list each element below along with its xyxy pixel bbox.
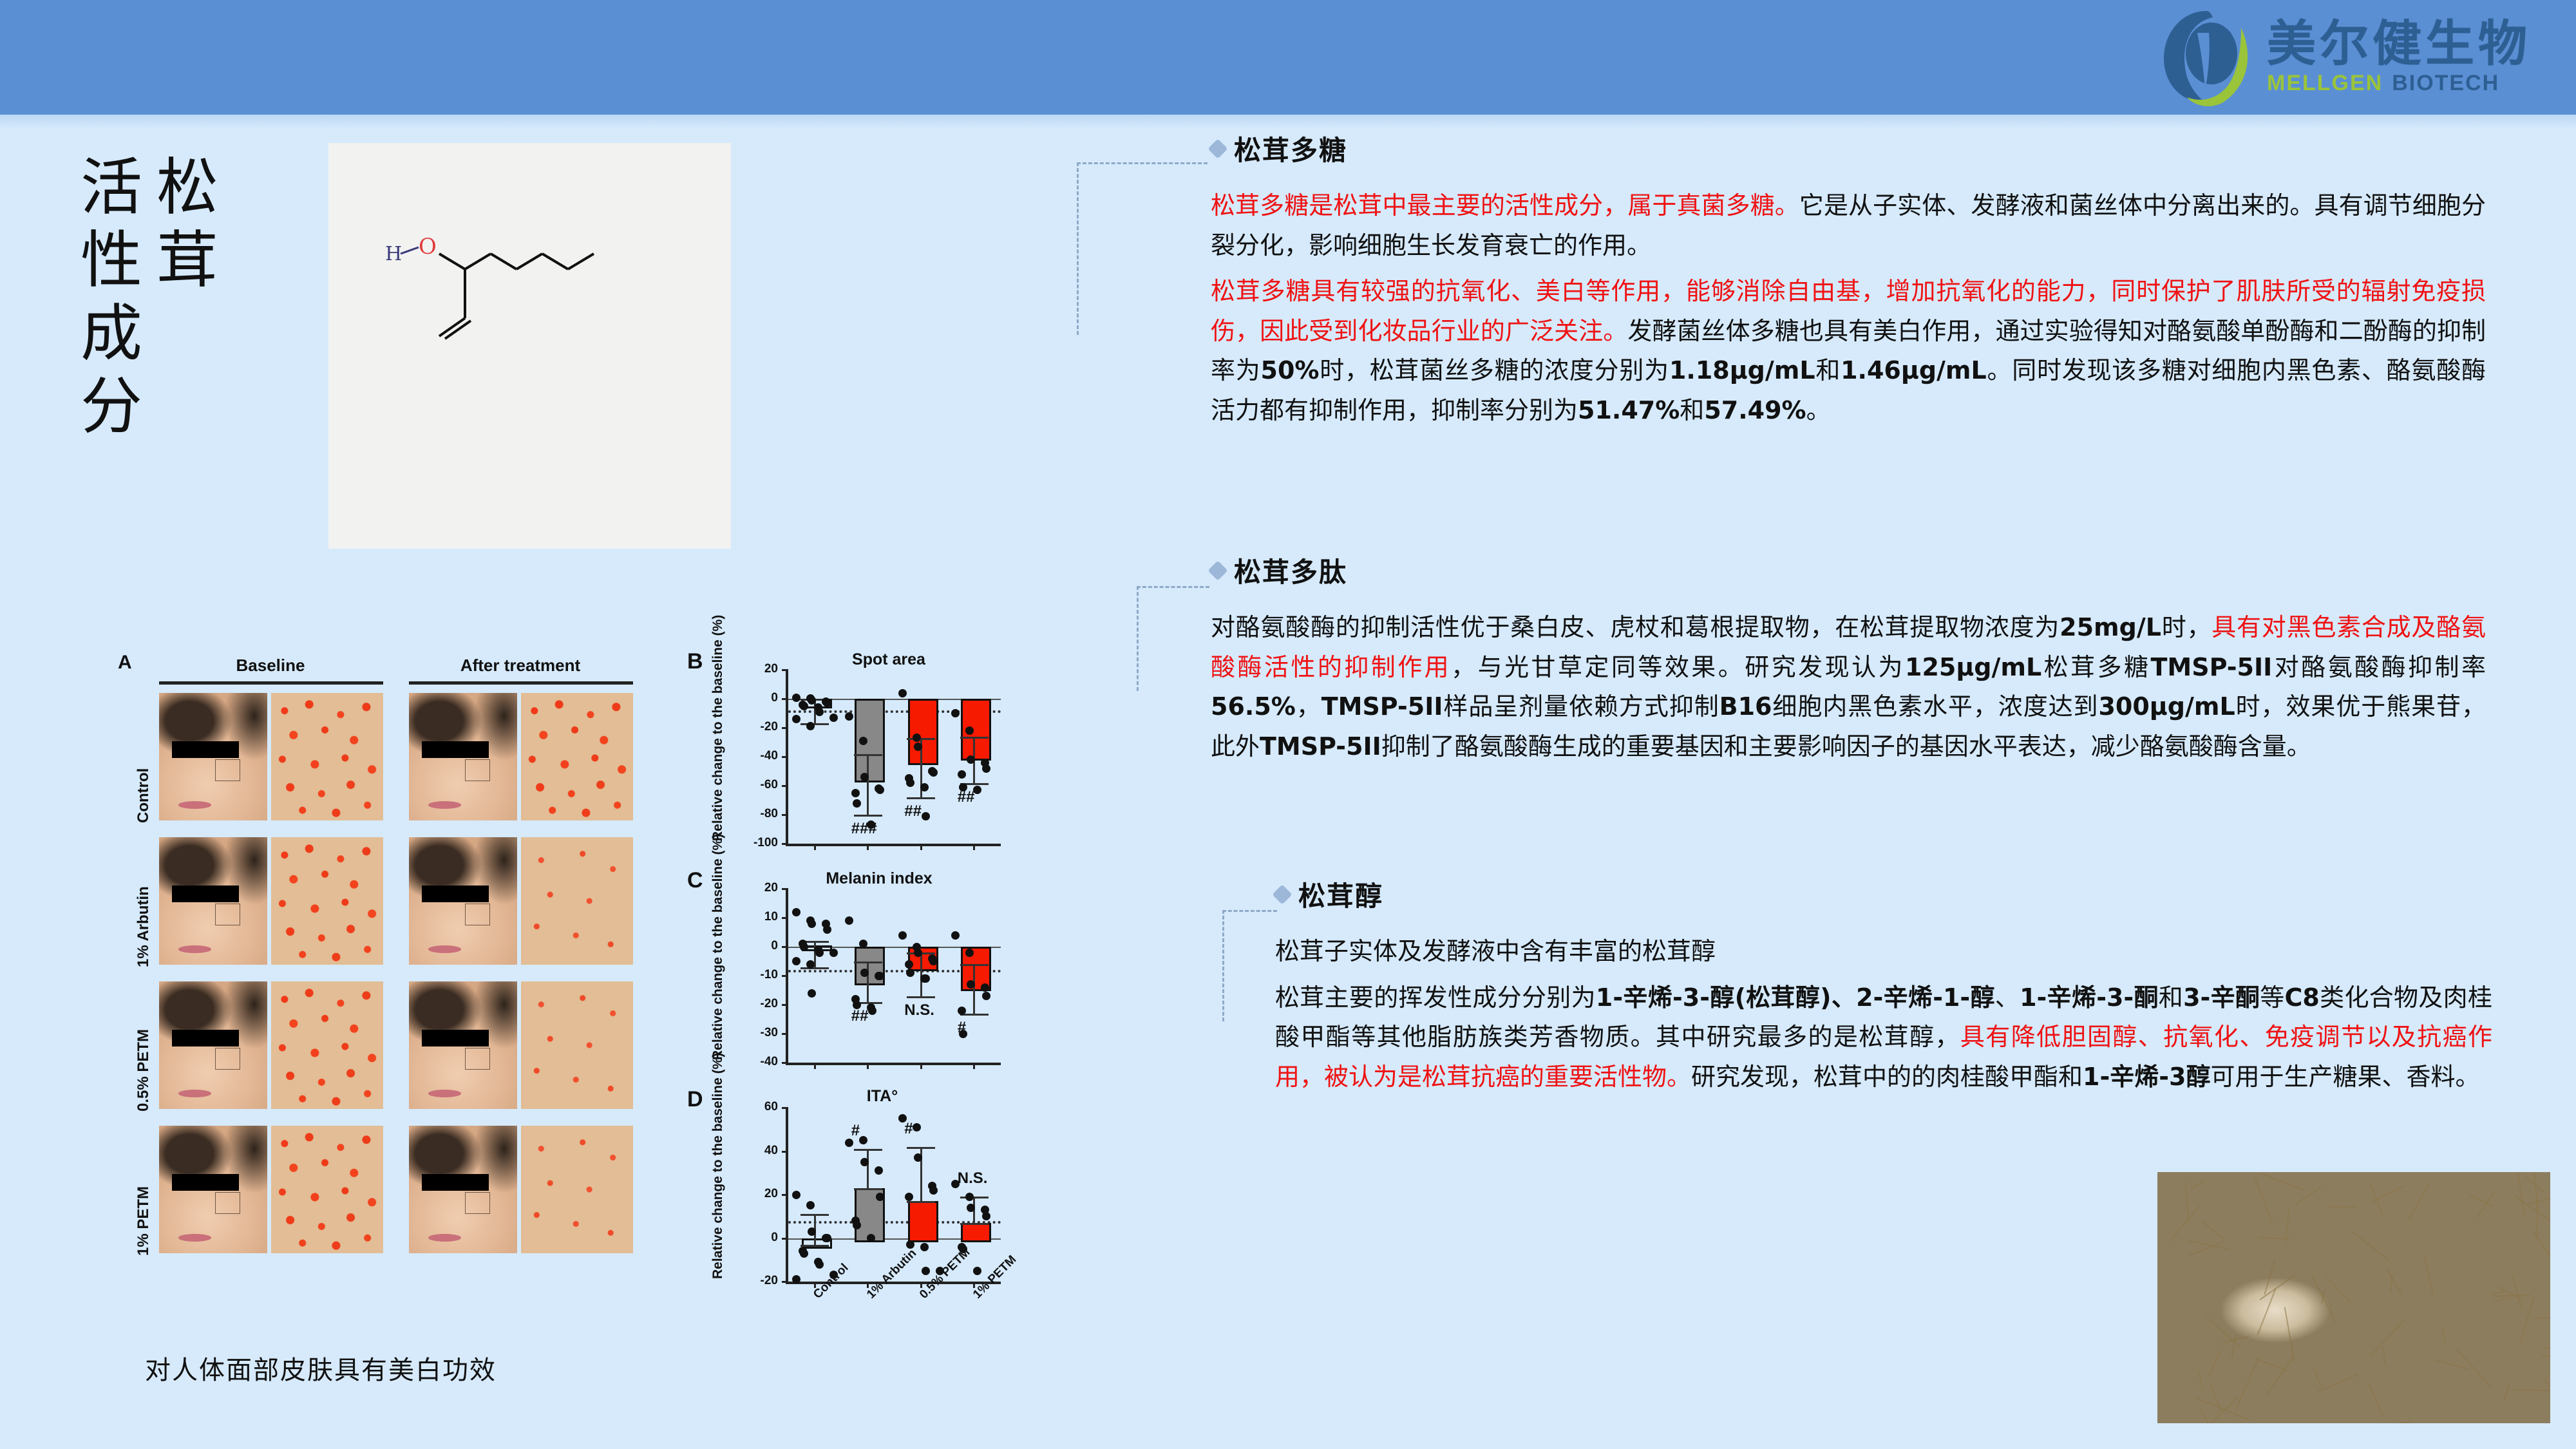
error-bar-cap xyxy=(854,754,882,756)
spot-map xyxy=(271,981,383,1109)
clinical-figure: A Baseline After treatment Control 1% Ar… xyxy=(119,644,1008,1340)
error-bar-cap xyxy=(854,1188,882,1190)
pine-needle xyxy=(2441,1327,2446,1342)
text-run: B16 xyxy=(1719,692,1772,721)
pine-needle xyxy=(2202,1221,2223,1240)
data-point xyxy=(792,957,800,965)
data-point xyxy=(868,1007,876,1015)
spot-map xyxy=(271,693,383,820)
text-run: 3-辛酮 xyxy=(2183,983,2260,1012)
y-axis-tick xyxy=(782,888,788,890)
data-point xyxy=(965,949,974,957)
pine-needle xyxy=(2529,1197,2550,1204)
text-run: TMSP-5II xyxy=(1260,732,1381,761)
error-bar-cap xyxy=(907,797,935,799)
x-axis-label: 1% Arbutin xyxy=(864,1247,920,1302)
data-point xyxy=(982,1212,990,1220)
y-axis-tick-label: -80 xyxy=(744,807,778,821)
bullet-diamond-icon xyxy=(1207,560,1227,580)
text-run: 松茸多糖是松茸中最主要的活性成分，属于真菌多糖。 xyxy=(1211,191,1799,220)
data-point xyxy=(951,931,960,940)
error-bar xyxy=(920,952,922,996)
significance-annotation: ## xyxy=(904,802,922,820)
error-bar-cap xyxy=(960,1197,989,1198)
error-bar-cap xyxy=(907,1201,935,1203)
spot-map xyxy=(271,837,383,965)
panel-c-plot: 20100-10-20-30-40##N.S.# xyxy=(786,889,1001,1065)
data-point xyxy=(859,737,867,745)
pine-needle xyxy=(2206,1316,2242,1348)
face-photo xyxy=(409,693,517,820)
row-label-arbutin: 1% Arbutin xyxy=(135,841,153,967)
x-axis-tick xyxy=(973,844,975,850)
text-run: ， xyxy=(1296,692,1321,721)
page-title-col-right: 松 茸 xyxy=(156,151,218,443)
chart-bar xyxy=(908,1201,938,1242)
panel-d-label: D xyxy=(687,1087,703,1112)
text-run: 50% xyxy=(1261,356,1320,384)
column-rule xyxy=(159,681,383,685)
chart-panel-d: D ITA° Relative change to the baseline (… xyxy=(686,1082,1008,1333)
data-point xyxy=(967,1204,975,1212)
y-axis-tick xyxy=(782,975,788,977)
bullet-diamond-icon xyxy=(1272,884,1292,904)
section-title: 松茸醇 xyxy=(1298,875,1383,914)
atom-o-label: O xyxy=(419,234,437,260)
pine-needle xyxy=(2371,1320,2405,1356)
data-point xyxy=(913,1123,921,1132)
data-point xyxy=(973,1267,981,1275)
figure-caption: 对人体面部皮肤具有美白功效 xyxy=(145,1349,497,1387)
y-axis-tick xyxy=(782,698,788,700)
data-point xyxy=(806,960,815,969)
error-bar xyxy=(867,961,869,1002)
page-title-char: 性 xyxy=(80,224,142,297)
panel-b-title: Spot area xyxy=(818,650,960,669)
brand-logo-text: 美尔健生物 MELLGEN BIOTECH xyxy=(2267,19,2531,94)
y-axis-tick xyxy=(782,1281,788,1283)
data-point xyxy=(906,969,914,977)
pine-needle xyxy=(2184,1182,2189,1221)
y-axis-tick-label: -100 xyxy=(744,836,778,850)
pine-needle xyxy=(2188,1241,2224,1256)
chart-panel-b: B Spot area Relative change to the basel… xyxy=(686,644,1008,857)
data-point xyxy=(981,983,989,992)
error-bar-cap xyxy=(907,1147,935,1149)
y-axis-tick xyxy=(782,814,788,816)
text-run: 。 xyxy=(1806,396,1831,424)
page-title-char: 活 xyxy=(80,151,142,224)
section-body: 松茸多糖是松茸中最主要的活性成分，属于真菌多糖。它是从子实体、发酵液和菌丝体中分… xyxy=(1211,186,2486,430)
data-point xyxy=(914,949,922,957)
chart-bar xyxy=(961,1223,991,1242)
text-run: 对酪氨酸酶抑制率 xyxy=(2272,653,2486,681)
data-point xyxy=(792,1191,800,1199)
data-point xyxy=(929,957,938,965)
data-point xyxy=(806,1201,815,1209)
face-photo xyxy=(159,981,267,1109)
data-point xyxy=(845,916,853,925)
data-point xyxy=(929,1186,938,1195)
page-title-char: 松 xyxy=(156,151,218,224)
section-alcohol: 松茸醇 松茸子实体及发酵液中含有丰富的松茸醇松茸主要的挥发性成分分别为1-辛烯-… xyxy=(1275,875,2492,1097)
pine-needle xyxy=(2383,1346,2386,1364)
matsutake-photo xyxy=(2157,1172,2550,1423)
spot-map xyxy=(521,1126,633,1253)
data-point xyxy=(853,799,861,808)
brand-name-en-2: BIOTECH xyxy=(2392,72,2499,94)
error-bar-cap xyxy=(800,1245,829,1247)
data-point xyxy=(859,1136,867,1144)
significance-annotation: # xyxy=(904,1120,913,1138)
pine-needle xyxy=(2515,1172,2525,1216)
slide-root: 美尔健生物 MELLGEN BIOTECH 松 茸 活 性 成 分 H O xyxy=(0,0,2576,1449)
charts-column: B Spot area Relative change to the basel… xyxy=(686,644,1008,1333)
pine-needle xyxy=(2328,1206,2357,1207)
panel-c-title: Melanin index xyxy=(808,869,950,888)
pine-needle xyxy=(2468,1194,2493,1207)
y-axis-tick xyxy=(782,1151,788,1153)
panel-a: A Baseline After treatment Control 1% Ar… xyxy=(145,656,660,1274)
error-bar-cap xyxy=(960,737,989,739)
pine-needle xyxy=(2208,1350,2221,1378)
y-axis-tick xyxy=(782,669,788,671)
pine-needle xyxy=(2325,1276,2352,1302)
section-paragraph: 松茸子实体及发酵液中含有丰富的松茸醇 xyxy=(1275,932,2492,972)
x-axis-tick xyxy=(973,1063,975,1069)
pine-needle xyxy=(2407,1184,2429,1220)
y-axis-tick xyxy=(782,1194,788,1196)
section-title: 松茸多糖 xyxy=(1234,129,1347,168)
connector-line-3 xyxy=(1222,910,1277,1021)
data-point xyxy=(823,699,831,707)
page-title-char: 成 xyxy=(80,298,142,370)
pine-needle xyxy=(2294,1186,2322,1205)
column-header-after: After treatment xyxy=(408,656,633,676)
y-axis-tick-label: -10 xyxy=(744,968,778,982)
section-header: 松茸多糖 xyxy=(1211,129,2486,168)
spot-map xyxy=(521,693,633,820)
data-point xyxy=(929,768,938,777)
pine-needle xyxy=(2254,1177,2273,1224)
data-point xyxy=(898,931,907,940)
text-run: 和 xyxy=(2159,983,2183,1012)
brand-name-cn: 美尔健生物 xyxy=(2267,19,2531,68)
data-point xyxy=(800,943,808,951)
text-run: 、 xyxy=(1995,983,2020,1012)
text-run: 抑制了酪氨酸酶生成的重要基因和主要影响因子的基因水平表达，减少酪氨酸酶含量。 xyxy=(1381,732,2311,761)
error-bar-cap xyxy=(854,1149,882,1151)
data-point xyxy=(875,1166,883,1175)
error-bar-cap xyxy=(907,738,935,740)
panel-c-label: C xyxy=(687,868,703,893)
data-point xyxy=(792,908,800,916)
data-point xyxy=(906,1240,914,1249)
page-title-col-left: 活 性 成 分 xyxy=(80,151,142,443)
text-run: 样品呈剂量依赖方式抑制 xyxy=(1443,692,1719,721)
row-label-petm-05: 0.5% PETM xyxy=(135,985,153,1112)
pine-needle xyxy=(2259,1274,2295,1300)
brand-name-en-1: MELLGEN xyxy=(2267,72,2383,94)
text-run: 松茸主要的挥发性成分分别为 xyxy=(1275,983,1596,1012)
text-run: 125μg/mL xyxy=(1905,653,2041,681)
face-photo xyxy=(159,837,267,965)
y-axis-tick-label: 60 xyxy=(744,1100,778,1114)
data-point xyxy=(922,1267,930,1275)
pine-needle xyxy=(2262,1173,2306,1191)
section-paragraph: 松茸多糖具有较强的抗氧化、美白等作用，能够消除自由基，增加抗氧化的能力，同时保护… xyxy=(1211,272,2486,430)
data-point xyxy=(914,1153,922,1162)
pine-needle xyxy=(2198,1370,2203,1390)
error-bar-cap xyxy=(800,1214,829,1216)
y-axis-tick-label: -20 xyxy=(744,720,778,734)
text-run: TMSP-5II xyxy=(2151,653,2273,681)
header-band-fade xyxy=(0,115,2576,129)
page-title-char: 茸 xyxy=(156,224,218,297)
face-photo xyxy=(159,1126,267,1253)
pine-needle xyxy=(2423,1255,2434,1298)
pine-needle xyxy=(2512,1274,2523,1309)
error-bar-cap xyxy=(800,723,829,725)
text-run: C8 xyxy=(2285,983,2320,1012)
y-axis-tick xyxy=(782,1107,788,1109)
error-bar-cap xyxy=(800,967,829,969)
x-axis-tick xyxy=(814,1063,816,1069)
row-label-control: Control xyxy=(135,697,153,823)
x-axis-tick xyxy=(920,1063,922,1069)
y-axis-tick xyxy=(782,785,788,787)
section-body: 松茸子实体及发酵液中含有丰富的松茸醇松茸主要的挥发性成分分别为1-辛烯-3-醇(… xyxy=(1275,932,2492,1097)
y-axis-tick-label: 20 xyxy=(744,881,778,895)
section-paragraph: 松茸多糖是松茸中最主要的活性成分，属于真菌多糖。它是从子实体、发酵液和菌丝体中分… xyxy=(1211,186,2486,265)
data-point xyxy=(845,712,853,721)
pine-needle xyxy=(2284,1307,2295,1361)
data-point xyxy=(829,714,838,722)
data-point xyxy=(815,1260,824,1269)
text-run: 等 xyxy=(2260,983,2284,1012)
x-axis-tick xyxy=(867,844,869,850)
data-point xyxy=(806,722,815,730)
panel-b-ylabel: Relative change to the baseline (%) xyxy=(710,661,726,841)
data-point xyxy=(823,1234,831,1242)
data-point xyxy=(815,949,824,957)
section-paragraph: 松茸主要的挥发性成分分别为1-辛烯-3-醇(松茸醇)、2-辛烯-1-醇、1-辛烯… xyxy=(1275,978,2492,1097)
data-point xyxy=(808,920,816,928)
atom-h-label: H xyxy=(385,243,402,265)
pine-needle xyxy=(2495,1296,2510,1302)
x-axis-label: 1% PETM xyxy=(971,1253,1019,1302)
text-run: 对酪氨酸酶的抑制活性优于桑白皮、虎杖和葛根提取物，在松茸提取物浓度为 xyxy=(1211,613,2060,641)
text-run: 研究发现，松茸中的的肉桂酸甲酯和 xyxy=(1691,1063,2083,1091)
data-point xyxy=(808,696,816,705)
panel-c-ylabel: Relative change to the baseline (%) xyxy=(710,880,726,1060)
data-point xyxy=(922,974,930,983)
error-bar-cap xyxy=(907,996,935,998)
data-point xyxy=(951,709,960,717)
pine-needle xyxy=(2490,1291,2504,1296)
data-point xyxy=(876,786,884,794)
y-axis-tick-label: 10 xyxy=(744,910,778,924)
data-point xyxy=(920,783,929,791)
data-point xyxy=(914,743,922,751)
error-bar-cap xyxy=(854,815,882,817)
pine-needle xyxy=(2316,1374,2358,1392)
text-run: 时，松茸菌丝多糖的浓度分别为 xyxy=(1320,356,1669,384)
row-label-petm-1: 1% PETM xyxy=(135,1130,153,1256)
page-title-char: 分 xyxy=(80,370,142,443)
pine-needle xyxy=(2533,1232,2550,1257)
y-axis-tick-label: -40 xyxy=(744,749,778,763)
text-run: 56.5% xyxy=(1211,692,1296,721)
pine-needle xyxy=(2190,1180,2205,1190)
data-point xyxy=(829,949,838,957)
text-run: 2-辛烯-1-醇 xyxy=(1856,983,1995,1012)
data-point xyxy=(853,1221,861,1229)
panel-a-label: A xyxy=(118,652,132,674)
data-point xyxy=(800,1249,808,1258)
y-axis-tick xyxy=(782,1062,788,1064)
leaf-circle-logo-icon xyxy=(2159,7,2255,107)
data-point xyxy=(905,960,913,969)
data-point xyxy=(982,992,990,1000)
y-axis-tick-label: -30 xyxy=(744,1026,778,1040)
section-peptide: 松茸多肽 对酪氨酸酶的抑制活性优于桑白皮、虎杖和葛根提取物，在松茸提取物浓度为2… xyxy=(1211,551,2486,766)
connector-line-2 xyxy=(1137,586,1209,691)
panel-d-title: ITA° xyxy=(811,1087,953,1106)
pine-needle xyxy=(2368,1383,2385,1418)
pine-needle xyxy=(2456,1349,2491,1387)
error-bar xyxy=(867,754,869,815)
section-polysaccharide: 松茸多糖 松茸多糖是松茸中最主要的活性成分，属于真菌多糖。它是从子实体、发酵液和… xyxy=(1211,129,2486,430)
error-bar-cap xyxy=(960,964,989,966)
text-run: ，与光甘草定同等效果。研究发现认为 xyxy=(1451,653,1905,681)
text-run: 1-辛烯-3-醇 xyxy=(1596,983,1735,1012)
y-axis-tick xyxy=(782,727,788,729)
text-run: TMSP-5II xyxy=(1321,692,1443,721)
panel-b-plot: 200-20-40-60-80-100####### xyxy=(786,670,1001,846)
text-run: 51.47% xyxy=(1578,396,1680,424)
page-title: 松 茸 活 性 成 分 xyxy=(80,151,218,443)
chart-panel-c: C Melanin index Relative change to the b… xyxy=(686,863,1008,1075)
text-run: 1-辛烯-3-酮 xyxy=(2020,983,2159,1012)
text-run: 和 xyxy=(1680,396,1704,424)
data-point xyxy=(815,708,824,716)
data-point xyxy=(958,770,966,779)
data-point xyxy=(920,1243,929,1251)
brand-logo: 美尔健生物 MELLGEN BIOTECH xyxy=(2159,5,2531,108)
y-axis-tick xyxy=(782,1033,788,1035)
y-axis-tick-label: -40 xyxy=(744,1055,778,1069)
panel-b-label: B xyxy=(687,649,703,674)
pine-needle xyxy=(2536,1199,2538,1238)
significance-annotation: # xyxy=(851,1122,860,1140)
text-run: 25mg/L xyxy=(2060,613,2161,641)
significance-annotation: ## xyxy=(958,788,975,806)
column-rule xyxy=(409,681,633,685)
text-run: 57.49% xyxy=(1704,396,1806,424)
x-axis-tick xyxy=(814,844,816,850)
data-point xyxy=(906,779,914,787)
text-run: 可用于生产糖果、香料。 xyxy=(2210,1063,2479,1091)
pine-needle xyxy=(2512,1389,2550,1391)
data-point xyxy=(851,789,860,797)
significance-annotation: N.S. xyxy=(958,1170,988,1188)
pine-needle xyxy=(2503,1383,2510,1401)
y-axis-tick-label: 0 xyxy=(744,939,778,953)
face-photo xyxy=(409,1126,517,1253)
text-run: 松茸多糖 xyxy=(2041,653,2150,681)
y-axis-tick-label: 0 xyxy=(744,691,778,705)
brand-name-en: MELLGEN BIOTECH xyxy=(2267,72,2531,94)
pine-needle xyxy=(2385,1267,2402,1295)
y-axis-tick xyxy=(782,1004,788,1006)
section-header: 松茸多肽 xyxy=(1211,551,2486,590)
molecule-diagram: H O xyxy=(328,143,731,549)
text-run: (松茸醇)、 xyxy=(1735,983,1857,1012)
y-axis-tick xyxy=(782,917,788,919)
section-body: 对酪氨酸酶的抑制活性优于桑白皮、虎杖和葛根提取物，在松茸提取物浓度为25mg/L… xyxy=(1211,608,2486,766)
error-bar xyxy=(867,1149,869,1188)
pine-needle xyxy=(2476,1191,2495,1218)
x-axis-tick xyxy=(867,1063,869,1069)
panel-d-plot: 6040200-20Control#1% Arbutin#0.5% PETMN.… xyxy=(786,1108,1001,1284)
significance-annotation: N.S. xyxy=(904,1001,934,1019)
bullet-diamond-icon xyxy=(1207,138,1227,158)
pine-needle xyxy=(2376,1421,2410,1423)
pine-needle xyxy=(2235,1358,2259,1410)
pine-needle xyxy=(2541,1349,2550,1358)
section-paragraph: 对酪氨酸酶的抑制活性优于桑白皮、虎杖和葛根提取物，在松茸提取物浓度为25mg/L… xyxy=(1211,608,2486,766)
y-axis-tick-label: -20 xyxy=(744,997,778,1011)
y-axis-tick-label: 20 xyxy=(744,1187,778,1201)
text-run: 细胞内黑色素水平，浓度达到 xyxy=(1772,692,2098,721)
connector-line-1 xyxy=(1077,162,1207,335)
pine-needle xyxy=(2436,1360,2468,1370)
y-axis-tick xyxy=(782,843,788,845)
y-axis-tick xyxy=(782,756,788,758)
spot-map xyxy=(521,981,633,1109)
data-point xyxy=(958,1007,966,1015)
pine-needle xyxy=(2543,1344,2550,1348)
y-axis-tick-label: -20 xyxy=(744,1274,778,1288)
text-run: 和 xyxy=(1815,356,1841,384)
text-run: 时， xyxy=(2161,613,2211,641)
data-point xyxy=(792,694,800,702)
y-axis-tick xyxy=(782,946,788,948)
text-run: 松茸子实体及发酵液中含有丰富的松茸醇 xyxy=(1275,937,1716,965)
significance-annotation: ## xyxy=(851,1007,869,1025)
spot-map xyxy=(271,1126,383,1253)
section-title: 松茸多肽 xyxy=(1234,551,1347,590)
data-point xyxy=(905,1193,913,1201)
y-axis-tick xyxy=(782,1238,788,1240)
pine-needle xyxy=(2535,1315,2550,1319)
data-point xyxy=(823,925,831,934)
error-bar-cap xyxy=(854,961,882,963)
text-run: 1.18μg/mL xyxy=(1669,356,1815,384)
y-axis-tick-label: 40 xyxy=(744,1144,778,1158)
text-run: 1-辛烯-3醇 xyxy=(2083,1063,2210,1091)
y-axis-tick-label: -60 xyxy=(744,778,778,792)
face-photo xyxy=(159,693,267,820)
data-point xyxy=(800,702,808,710)
data-point xyxy=(913,734,921,742)
x-axis-tick xyxy=(920,844,922,850)
section-header: 松茸醇 xyxy=(1275,875,2492,914)
text-run: 1.46μg/mL xyxy=(1841,356,1987,384)
panel-d-ylabel: Relative change to the baseline (%) xyxy=(710,1099,726,1279)
pine-needle xyxy=(2311,1274,2337,1323)
